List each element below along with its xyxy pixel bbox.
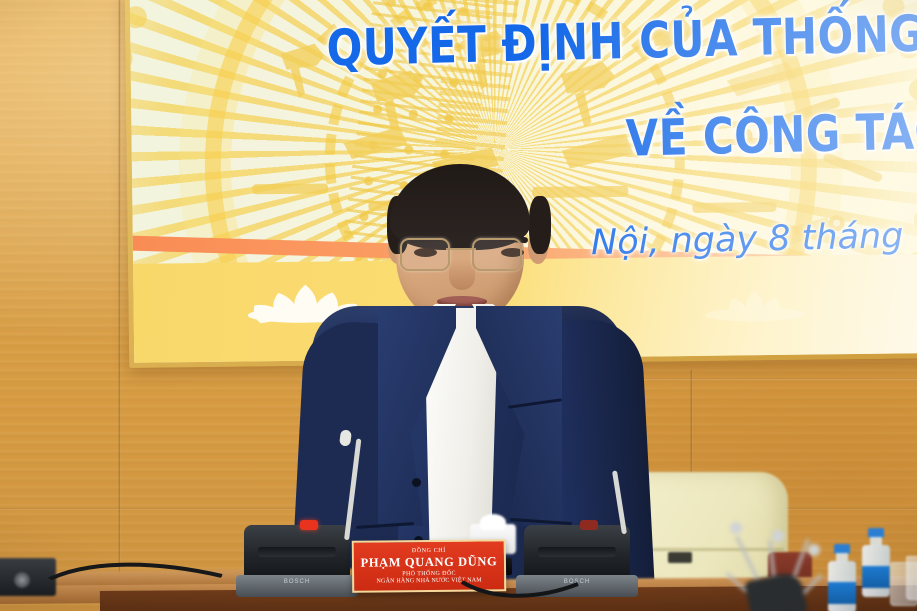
lotus-icon [702, 285, 806, 326]
flower-bud [730, 522, 742, 534]
microphone-brand-label: BOSCH [284, 579, 310, 585]
glasses-lens-right [472, 238, 522, 271]
drinking-glass [906, 556, 917, 600]
microphone-speaker-grille [258, 547, 336, 557]
flower-bud [772, 530, 784, 542]
microphone-speaker-body [244, 525, 350, 577]
flower-bud [808, 544, 820, 556]
glasses-bridge [446, 248, 476, 250]
microphone-speaker-body [524, 525, 630, 577]
microphone-led-indicator[interactable] [580, 520, 598, 530]
tissue-sheet [480, 514, 506, 530]
microphone-led-indicator[interactable] [300, 520, 318, 530]
cable [460, 572, 580, 602]
hair-side [529, 196, 551, 254]
placard-person-name: PHẠM QUANG DŨNG [354, 554, 504, 571]
chair-label-tag [668, 552, 692, 563]
cable [44, 556, 224, 590]
bottle-label [862, 566, 890, 588]
suit-button [412, 478, 421, 487]
bottle-label [828, 582, 856, 604]
flower-arrangement [712, 520, 842, 611]
conference-photo-scene: QUYẾT ĐỊNH CỦA THỐNG ĐỐC NGÂN H VỀ CÔNG … [0, 0, 917, 611]
conference-microphone-unit[interactable]: BOSCH [236, 519, 360, 597]
tabletop-device-lens [14, 572, 30, 588]
microphone-speaker-grille [538, 547, 616, 557]
glasses-lens-left [400, 238, 450, 271]
wall-panel-seam [118, 0, 121, 611]
microphone-base: BOSCH [236, 575, 358, 597]
nose [449, 260, 475, 290]
